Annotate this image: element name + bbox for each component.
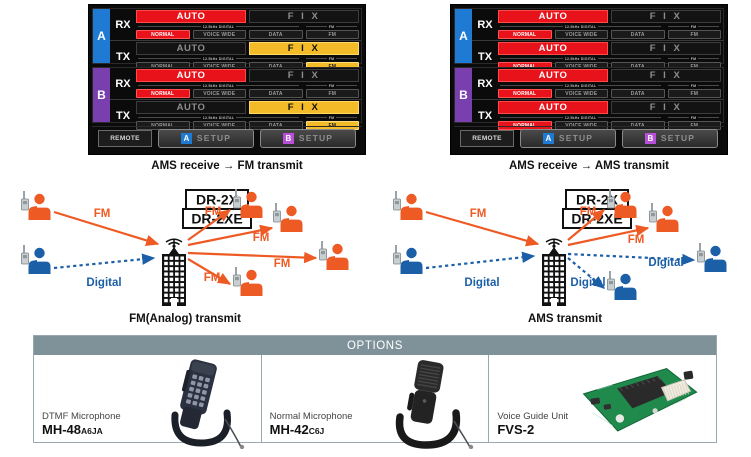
option-model-main: FVS-2 — [497, 422, 534, 437]
signal-flow-diagram-ams: DR-2X DR-2XE FMDigital — [378, 186, 746, 324]
display-caption-left: AMS receive → FM transmit — [88, 160, 366, 172]
setup-button-b[interactable]: BSETUP — [622, 129, 718, 148]
svg-text:FM: FM — [205, 206, 222, 218]
mode-group-label-text: FM — [691, 116, 697, 120]
row-label-rx: RX — [472, 9, 498, 40]
mode-group-label-text: FM — [691, 57, 697, 61]
option-model-suffix: A6JA — [81, 426, 103, 436]
svg-text:Digital: Digital — [464, 277, 499, 289]
option-item: Voice Guide UnitFVS-2 — [488, 355, 716, 442]
svg-text:FM: FM — [94, 208, 111, 220]
auto-mode-cell[interactable]: AUTO — [136, 42, 246, 55]
radio-display-panel-left[interactable]: ARXAUTOF I X12.5kHz DIGITALFMNORMALVOICE… — [88, 4, 366, 155]
setup-button-a[interactable]: ASETUP — [158, 129, 254, 148]
fix-mode-cell[interactable]: F I X — [249, 101, 359, 114]
mode-group-label: 12.5kHz DIGITAL — [136, 57, 301, 61]
auto-mode-cell[interactable]: AUTO — [136, 10, 246, 23]
svg-text:Digital: Digital — [570, 277, 605, 289]
setup-button-label: SETUP — [299, 133, 333, 143]
auto-mode-cell[interactable]: AUTO — [498, 101, 608, 114]
mode-group-label-text: 12.5kHz DIGITAL — [565, 25, 597, 29]
submode-button-data[interactable]: DATA — [249, 30, 303, 39]
setup-button-a[interactable]: ASETUP — [520, 129, 616, 148]
mode-group-label: 12.5kHz DIGITAL — [136, 84, 301, 88]
submode-button-voice-wide[interactable]: VOICE WIDE — [193, 89, 247, 98]
fix-mode-cell[interactable]: F I X — [611, 10, 721, 23]
display-button-bar: REMOTEASETUPBSETUP — [92, 126, 362, 149]
options-section: OPTIONS DTMF MicrophoneMH-48A6JA Normal … — [33, 335, 717, 443]
flow-caption-right: AMS transmit — [440, 313, 690, 325]
submode-button-fm[interactable]: FM — [306, 89, 360, 98]
setup-button-label: SETUP — [661, 133, 695, 143]
fix-mode-cell[interactable]: F I X — [249, 42, 359, 55]
band-label-a: A — [455, 9, 472, 63]
flow-caption-left: FM(Analog) transmit — [60, 313, 310, 325]
dtmf-microphone-image — [139, 357, 257, 454]
mode-group-label-text: 12.5kHz DIGITAL — [565, 57, 597, 61]
mode-group-label-text: 12.5kHz DIGITAL — [203, 116, 235, 120]
svg-text:FM: FM — [628, 234, 645, 246]
submode-button-data[interactable]: DATA — [611, 89, 665, 98]
submode-button-data[interactable]: DATA — [249, 89, 303, 98]
mode-group-label: FM — [666, 116, 721, 120]
svg-text:FM: FM — [580, 206, 597, 218]
setup-button-label: SETUP — [559, 133, 593, 143]
row-label-rx: RX — [110, 68, 136, 99]
mode-group-label-text: 12.5kHz DIGITAL — [203, 25, 235, 29]
band-block-b: BRXAUTOF I X12.5kHz DIGITALFMNORMALVOICE… — [92, 67, 362, 123]
setup-badge-a: A — [181, 133, 192, 144]
mode-row-rx: RXAUTOF I X12.5kHz DIGITALFMNORMALVOICE … — [110, 68, 361, 99]
auto-mode-cell[interactable]: AUTO — [136, 101, 246, 114]
mode-row-rx: RXAUTOF I X12.5kHz DIGITALFMNORMALVOICE … — [110, 9, 361, 40]
mode-group-label: FM — [304, 84, 359, 88]
band-label-b: B — [93, 68, 110, 122]
fix-mode-cell[interactable]: F I X — [249, 69, 359, 82]
option-model-suffix: C6J — [309, 426, 325, 436]
setup-badge-b: B — [645, 133, 656, 144]
setup-badge-a: A — [543, 133, 554, 144]
hand-microphone-image — [366, 357, 484, 454]
option-item: Normal MicrophoneMH-42C6J — [261, 355, 489, 442]
mode-group-label: FM — [666, 25, 721, 29]
signal-flow-diagram-fm-analog: DR-2X DR-2XE FMDigital — [6, 186, 366, 324]
mode-group-label-text: 12.5kHz DIGITAL — [203, 84, 235, 88]
mode-group-label: FM — [304, 57, 359, 61]
band-label-b: B — [455, 68, 472, 122]
submode-button-voice-wide[interactable]: VOICE WIDE — [555, 30, 609, 39]
mode-group-label-text: 12.5kHz DIGITAL — [565, 116, 597, 120]
submode-button-voice-wide[interactable]: VOICE WIDE — [555, 89, 609, 98]
band-label-a: A — [93, 9, 110, 63]
mode-group-label: 12.5kHz DIGITAL — [498, 84, 663, 88]
mode-group-label: 12.5kHz DIGITAL — [136, 25, 301, 29]
submode-button-normal[interactable]: NORMAL — [136, 30, 190, 39]
submode-button-normal[interactable]: NORMAL — [136, 89, 190, 98]
submode-button-normal[interactable]: NORMAL — [498, 30, 552, 39]
radio-display-panel-right[interactable]: ARXAUTOF I X12.5kHz DIGITALFMNORMALVOICE… — [450, 4, 728, 155]
setup-button-label: SETUP — [197, 133, 231, 143]
fix-mode-cell[interactable]: F I X — [249, 10, 359, 23]
row-label-rx: RX — [472, 68, 498, 99]
svg-text:FM: FM — [470, 208, 487, 220]
band-block-a: ARXAUTOF I X12.5kHz DIGITALFMNORMALVOICE… — [454, 8, 724, 64]
submode-button-fm[interactable]: FM — [668, 89, 722, 98]
remote-button[interactable]: REMOTE — [98, 130, 152, 147]
submode-button-normal[interactable]: NORMAL — [498, 89, 552, 98]
svg-text:FM: FM — [253, 232, 270, 244]
option-item: DTMF MicrophoneMH-48A6JA — [34, 355, 261, 442]
mode-group-label-text: FM — [329, 84, 335, 88]
options-header: OPTIONS — [34, 336, 716, 355]
mode-group-label-text: FM — [691, 84, 697, 88]
submode-button-fm[interactable]: FM — [668, 30, 722, 39]
submode-button-data[interactable]: DATA — [611, 30, 665, 39]
auto-mode-cell[interactable]: AUTO — [498, 42, 608, 55]
svg-text:Digital: Digital — [86, 277, 121, 289]
submode-button-voice-wide[interactable]: VOICE WIDE — [193, 30, 247, 39]
circuit-board-image — [576, 365, 706, 448]
mode-row-rx: RXAUTOF I X12.5kHz DIGITALFMNORMALVOICE … — [472, 9, 723, 40]
mode-group-label: FM — [666, 84, 721, 88]
mode-group-label: 12.5kHz DIGITAL — [498, 25, 663, 29]
mode-group-label: 12.5kHz DIGITAL — [136, 116, 301, 120]
display-button-bar: REMOTEASETUPBSETUP — [454, 126, 724, 149]
options-list: DTMF MicrophoneMH-48A6JA Normal Micropho… — [34, 355, 716, 442]
fix-mode-cell[interactable]: F I X — [611, 101, 721, 114]
fix-mode-cell[interactable]: F I X — [611, 69, 721, 82]
mode-row-rx: RXAUTOF I X12.5kHz DIGITALFMNORMALVOICE … — [472, 68, 723, 99]
mode-group-label-text: FM — [329, 116, 335, 120]
mode-group-label-text: FM — [691, 25, 697, 29]
mode-group-label: 12.5kHz DIGITAL — [498, 57, 663, 61]
band-block-a: ARXAUTOF I X12.5kHz DIGITALFMNORMALVOICE… — [92, 8, 362, 64]
setup-badge-b: B — [283, 133, 294, 144]
mode-group-label-text: FM — [329, 57, 335, 61]
fix-mode-cell[interactable]: F I X — [611, 42, 721, 55]
svg-text:Digital: Digital — [648, 257, 683, 269]
svg-text:FM: FM — [274, 258, 291, 270]
row-label-rx: RX — [110, 9, 136, 40]
band-block-b: BRXAUTOF I X12.5kHz DIGITALFMNORMALVOICE… — [454, 67, 724, 123]
auto-mode-cell[interactable]: AUTO — [498, 10, 608, 23]
mode-group-label: 12.5kHz DIGITAL — [498, 116, 663, 120]
svg-text:FM: FM — [204, 272, 221, 284]
submode-button-fm[interactable]: FM — [306, 30, 360, 39]
mode-group-label-text: FM — [329, 25, 335, 29]
option-model-main: MH-48 — [42, 422, 81, 437]
display-caption-right: AMS receive → AMS transmit — [450, 160, 728, 172]
setup-button-b[interactable]: BSETUP — [260, 129, 356, 148]
mode-group-label: FM — [666, 57, 721, 61]
mode-group-label-text: 12.5kHz DIGITAL — [203, 57, 235, 61]
auto-mode-cell[interactable]: AUTO — [498, 69, 608, 82]
mode-group-label: FM — [304, 116, 359, 120]
mode-group-label-text: 12.5kHz DIGITAL — [565, 84, 597, 88]
remote-button[interactable]: REMOTE — [460, 130, 514, 147]
mode-group-label: FM — [304, 25, 359, 29]
option-model-main: MH-42 — [270, 422, 309, 437]
auto-mode-cell[interactable]: AUTO — [136, 69, 246, 82]
